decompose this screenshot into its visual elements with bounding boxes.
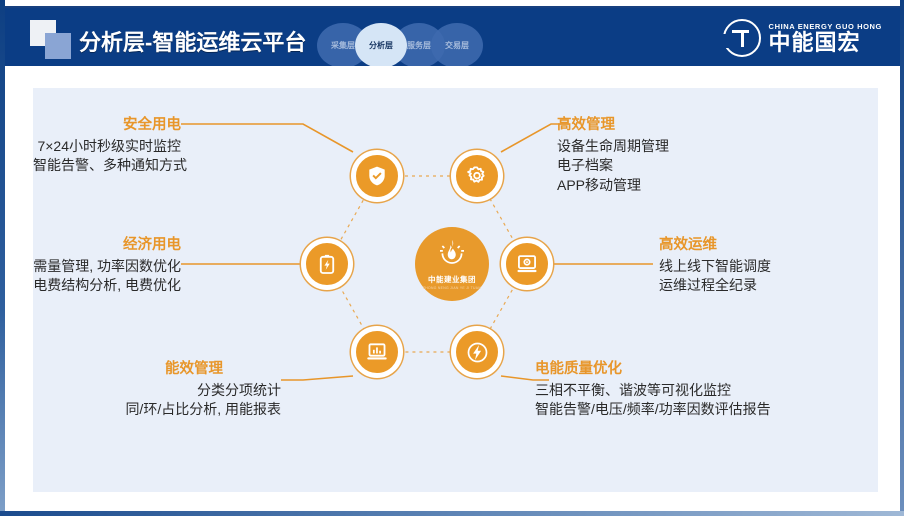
node-energy-efficiency[interactable] (351, 326, 403, 378)
pill-label: 分析层 (369, 40, 393, 51)
label-body: 三相不平衡、谐波等可视化监控 智能告警/电压/频率/功率因数评估报告 (535, 381, 771, 420)
bolt-circle-icon (466, 341, 489, 364)
label-energy-efficiency: 能效管理 分类分项统计 同/环/占比分析, 用能报表 (33, 360, 281, 420)
brand-chinese: 中能国宏 (769, 32, 882, 54)
content-panel: 中能建业集团 ZHONG NENG JIAN YE JI TUAN 安全用电 7… (33, 88, 878, 492)
label-line-1: 分类分项统计 (33, 381, 281, 400)
label-body: 7×24小时秒级实时监控 智能告警、多种通知方式 (33, 137, 181, 176)
label-line-2: 电子档案 (557, 156, 669, 175)
label-line-1: 设备生命周期管理 (557, 137, 669, 156)
label-title: 高效管理 (557, 116, 669, 134)
label-safe-power: 安全用电 7×24小时秒级实时监控 智能告警、多种通知方式 (33, 116, 181, 176)
two-squares-icon (30, 20, 78, 60)
square-blue (45, 33, 71, 59)
pill-trade-layer[interactable]: 交易层 (431, 23, 483, 66)
battery-bolt-icon (316, 253, 338, 275)
circle-h-logo-icon (723, 19, 761, 57)
pill-analysis-layer-active[interactable]: 分析层 (355, 23, 407, 66)
label-line-2: 智能告警/电压/频率/功率因数评估报告 (535, 400, 771, 419)
slide-page: 分析层-智能运维云平台 采集层 服务层 交易层 分析层 CHINA ENERGY… (0, 0, 904, 516)
label-body: 线上线下智能调度 运维过程全纪录 (659, 257, 771, 296)
label-power-quality: 电能质量优化 三相不平衡、谐波等可视化监控 智能告警/电压/频率/功率因数评估报… (535, 360, 771, 420)
header-bar: 分析层-智能运维云平台 采集层 服务层 交易层 分析层 CHINA ENERGY… (5, 6, 900, 66)
flame-gear-icon (435, 238, 469, 273)
laptop-chart-icon (366, 341, 388, 363)
node-safe-power[interactable] (351, 150, 403, 202)
frame-right-edge (900, 0, 904, 516)
label-line-2: 同/环/占比分析, 用能报表 (33, 400, 281, 419)
label-body: 需量管理, 功率因数优化 电费结构分析, 电费优化 (15, 257, 181, 296)
label-title: 经济用电 (15, 236, 181, 254)
pill-label: 服务层 (407, 40, 431, 51)
label-line-2: 智能告警、多种通知方式 (33, 156, 181, 175)
pill-label: 交易层 (445, 40, 469, 51)
label-title: 高效运维 (659, 236, 771, 254)
label-title: 能效管理 (33, 360, 223, 378)
center-english: ZHONG NENG JIAN YE JI TUAN (423, 286, 481, 290)
node-efficient-ops[interactable] (501, 238, 553, 290)
frame-left-edge (0, 0, 5, 516)
pill-label: 采集层 (331, 40, 355, 51)
page-title: 分析层-智能运维云平台 (79, 25, 306, 57)
brand-logo: CHINA ENERGY GUO HONG 中能国宏 (723, 19, 882, 57)
label-line-1: 需量管理, 功率因数优化 (15, 257, 181, 276)
label-line-1: 7×24小时秒级实时监控 (33, 137, 181, 156)
label-line-1: 线上线下智能调度 (659, 257, 771, 276)
label-economic-power: 经济用电 需量管理, 功率因数优化 电费结构分析, 电费优化 (15, 236, 181, 296)
label-title: 安全用电 (33, 116, 181, 134)
label-body: 设备生命周期管理 电子档案 APP移动管理 (557, 137, 669, 195)
label-title: 电能质量优化 (535, 360, 771, 378)
label-line-2: 电费结构分析, 电费优化 (15, 276, 181, 295)
gear-icon (466, 165, 488, 187)
center-logo: 中能建业集团 ZHONG NENG JIAN YE JI TUAN (415, 227, 489, 301)
label-line-2: 运维过程全纪录 (659, 276, 771, 295)
label-efficient-ops: 高效运维 线上线下智能调度 运维过程全纪录 (659, 236, 771, 296)
center-chinese: 中能建业集团 (428, 274, 476, 285)
node-economic-power[interactable] (301, 238, 353, 290)
monitor-gear-icon (516, 253, 538, 275)
label-line-3: APP移动管理 (557, 176, 669, 195)
label-efficient-management: 高效管理 设备生命周期管理 电子档案 APP移动管理 (557, 116, 669, 195)
logo-notch (722, 34, 731, 48)
brand-text: CHINA ENERGY GUO HONG 中能国宏 (769, 22, 882, 54)
shield-check-icon (366, 165, 388, 187)
label-body: 分类分项统计 同/环/占比分析, 用能报表 (33, 381, 281, 420)
node-power-quality[interactable] (451, 326, 503, 378)
hexagon-diagram: 中能建业集团 ZHONG NENG JIAN YE JI TUAN 安全用电 7… (33, 88, 878, 492)
node-efficient-management[interactable] (451, 150, 503, 202)
frame-bottom-edge (0, 511, 904, 516)
label-line-1: 三相不平衡、谐波等可视化监控 (535, 381, 771, 400)
